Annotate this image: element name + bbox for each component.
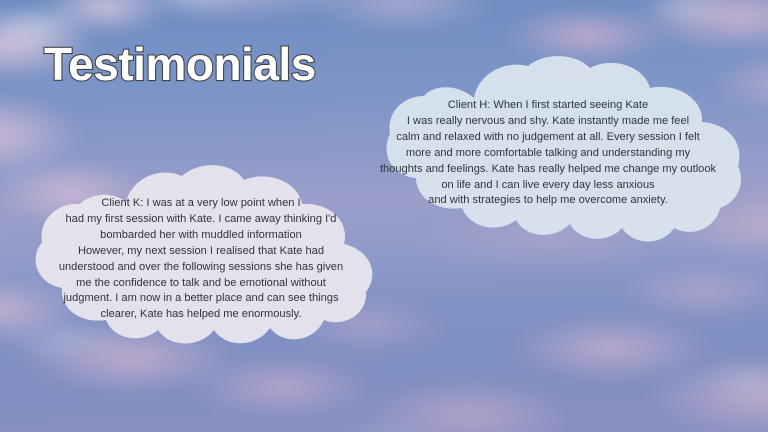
- testimonial-text-client-h: Client H: When I first started seeing Ka…: [370, 98, 726, 209]
- testimonial-text-client-k: Client K: I was at a very low point when…: [34, 196, 368, 323]
- testimonial-cloud-client-h: Client H: When I first started seeing Ka…: [352, 58, 744, 246]
- slide-canvas: Testimonials Client H: When I first star…: [0, 0, 768, 432]
- testimonial-cloud-client-k: Client K: I was at a very low point when…: [14, 164, 386, 354]
- page-title: Testimonials: [44, 40, 316, 88]
